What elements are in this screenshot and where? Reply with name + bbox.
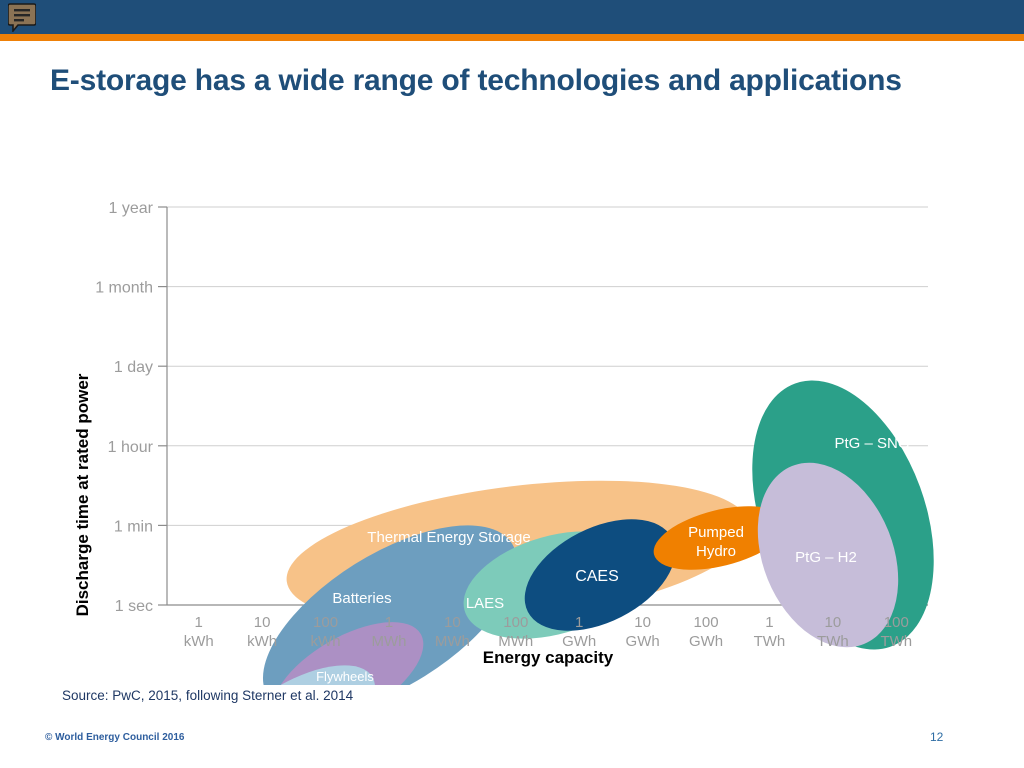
- y-axis-tick-label: 1 sec: [115, 598, 153, 615]
- x-axis-tick-label: 100GWh: [689, 614, 723, 650]
- region-label: PumpedHydro: [688, 524, 744, 560]
- accent-bar: [0, 34, 1024, 41]
- x-axis-tick-label: 10GWh: [626, 614, 660, 650]
- region-label: LAES: [466, 595, 504, 612]
- chart-svg: Discharge time at rated power Energy cap…: [60, 185, 960, 685]
- y-axis-title: Discharge time at rated power: [73, 373, 92, 616]
- source-note: Source: PwC, 2015, following Sterner et …: [62, 688, 353, 703]
- region-label: CAES: [575, 568, 619, 585]
- region-label: Thermal Energy Storage: [367, 529, 530, 546]
- page-number: 12: [930, 730, 943, 744]
- top-banner: [0, 0, 1024, 34]
- region-label: PtG – SNG: [834, 435, 909, 452]
- region-label: PtG – H2: [795, 549, 857, 566]
- y-axis-tick-label: 1 hour: [108, 439, 154, 456]
- y-axis-tick-label: 1 year: [109, 200, 154, 217]
- y-axis-tick-label: 1 min: [114, 518, 153, 535]
- y-axis-tick-label: 1 month: [95, 280, 153, 297]
- region-label: Batteries: [332, 590, 391, 607]
- speech-bubble-icon: [8, 2, 36, 32]
- page-title: E-storage has a wide range of technologi…: [50, 62, 950, 100]
- x-axis-title: Energy capacity: [483, 648, 614, 667]
- x-axis-tick-label: 1TWh: [754, 614, 786, 650]
- storage-technology-chart: Discharge time at rated power Energy cap…: [60, 185, 960, 685]
- x-axis-tick-label: 1kWh: [184, 614, 214, 650]
- region-label: Flywheels: [316, 669, 374, 684]
- copyright-note: © World Energy Council 2016: [45, 732, 184, 743]
- x-axis-tick-label: 10kWh: [247, 614, 277, 650]
- y-axis-tick-label: 1 day: [114, 359, 153, 376]
- y-axis-tick-labels: 1 year1 month1 day1 hour1 min1 sec: [95, 200, 153, 615]
